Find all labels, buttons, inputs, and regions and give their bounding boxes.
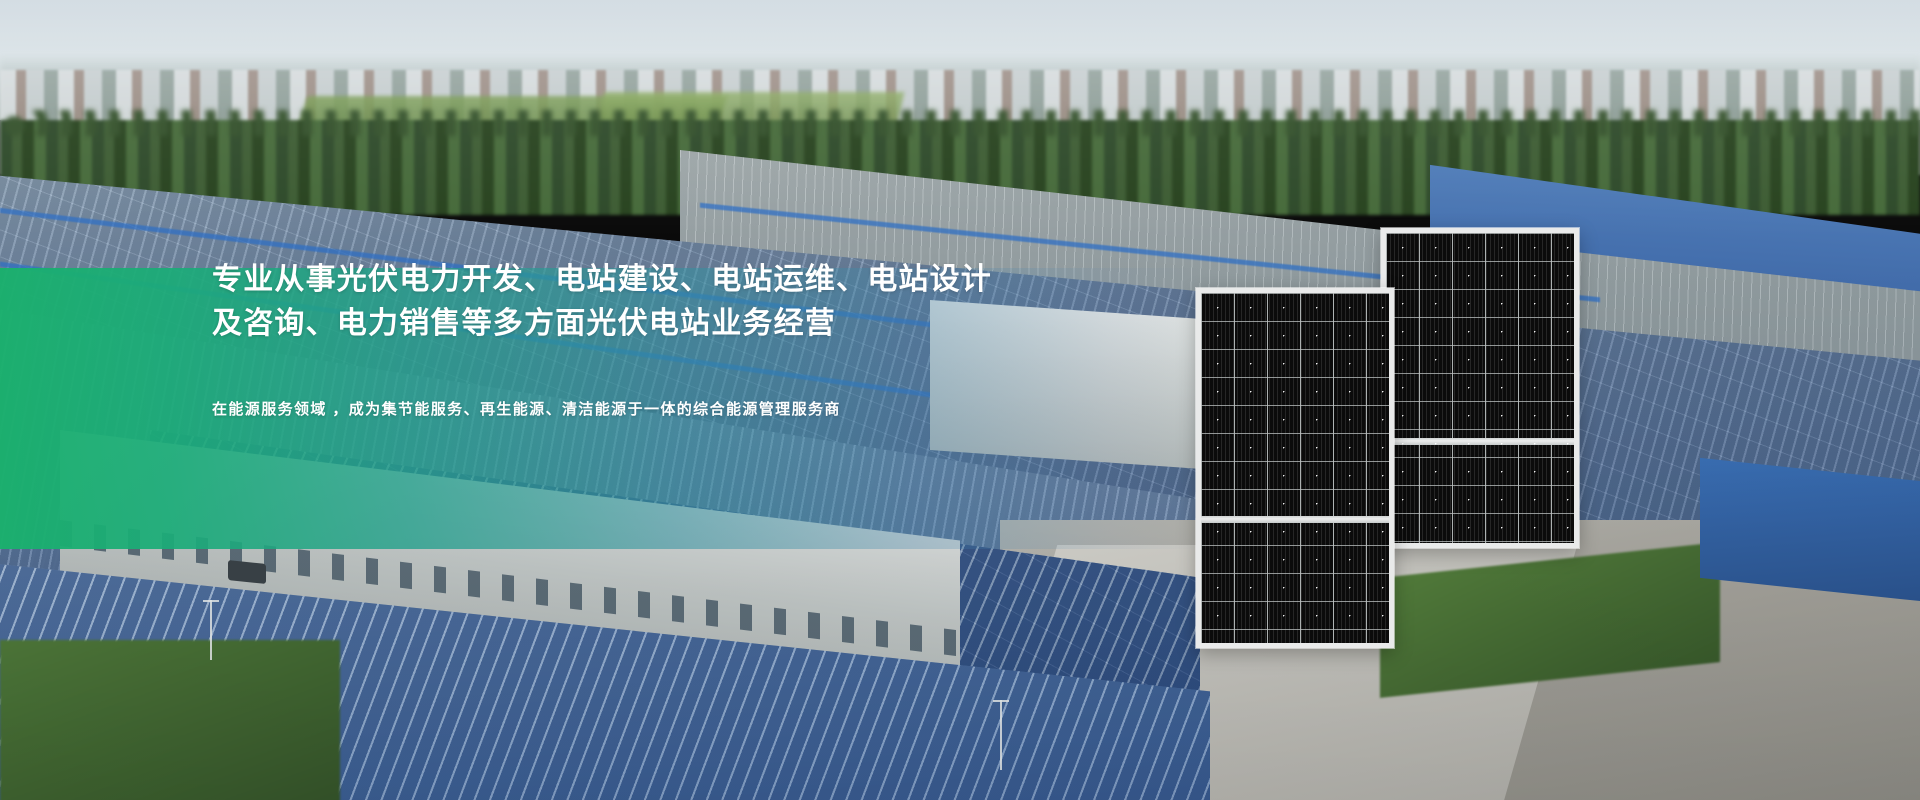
solar-cell-grid (1201, 293, 1389, 643)
parked-van (228, 560, 266, 584)
panel-split-bar (1386, 438, 1574, 445)
hero-subtitle: 在能源服务领域 ，成为集节能服务、再生能源、清洁能源于一体的综合能源管理服务商 (212, 398, 972, 422)
hero-banner: 专业从事光伏电力开发、电站建设、电站运维、电站设计 及咨询、电力销售等多方面光伏… (0, 0, 1920, 800)
solar-panel-back-image (1381, 228, 1579, 548)
light-pole (1000, 700, 1002, 770)
light-pole (210, 600, 212, 660)
solar-panel-front-image (1196, 288, 1394, 648)
grass-strip-left (0, 640, 340, 800)
hero-headline-line-1: 专业从事光伏电力开发、电站建设、电站运维、电站设计 (212, 258, 972, 302)
panel-split-bar (1201, 516, 1389, 523)
hero-text-block: 专业从事光伏电力开发、电站建设、电站运维、电站设计 及咨询、电力销售等多方面光伏… (212, 258, 972, 422)
hero-headline-line-2: 及咨询、电力销售等多方面光伏电站业务经营 (212, 302, 972, 346)
solar-cell-grid (1386, 233, 1574, 543)
blue-shed-right (1700, 458, 1920, 602)
